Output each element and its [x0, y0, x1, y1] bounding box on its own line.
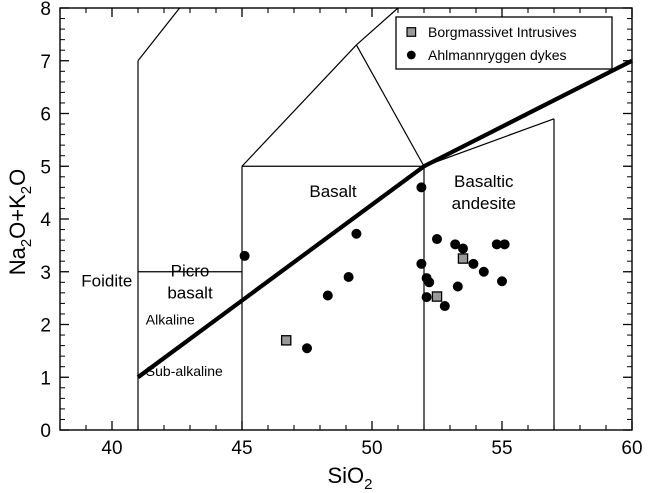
data-point-circle [240, 251, 249, 260]
data-point-circle [352, 229, 361, 238]
y-tick-label: 2 [40, 316, 51, 337]
data-point-circle [344, 272, 353, 281]
x-tick-label: 55 [491, 438, 512, 459]
field-label-line1: Picro [171, 262, 210, 281]
legend-label: Ahlmannryggen dykes [428, 47, 567, 63]
data-point-circle [497, 277, 506, 286]
data-point-circle [469, 259, 478, 268]
field-label-line2: andesite [452, 194, 516, 213]
field-label-foidite: Foidite [81, 272, 132, 291]
y-tick-label: 1 [40, 368, 51, 389]
x-axis-title-sub: 2 [364, 476, 372, 493]
annotation-alkaline: Alkaline [146, 312, 195, 328]
x-tick-label: 50 [361, 438, 382, 459]
data-point-circle [500, 240, 509, 249]
chart-legend: Borgmassivet IntrusivesAhlmannryggen dyk… [396, 17, 612, 69]
y-tick-label: 8 [40, 0, 51, 20]
legend-label: Borgmassivet Intrusives [428, 24, 577, 40]
data-point-square [458, 254, 467, 263]
data-point-circle [422, 292, 431, 301]
chart-canvas: 4045505560012345678 FoiditePicrobasaltBa… [0, 0, 653, 493]
data-point-circle [417, 259, 426, 268]
data-point-circle [453, 282, 462, 291]
field-label-line2: basalt [167, 284, 213, 303]
tas-diagram-figure: 4045505560012345678 FoiditePicrobasaltBa… [0, 0, 653, 493]
field-label-line1: Basaltic [454, 172, 514, 191]
annotation-sub-alkaline: Sub-alkaline [146, 363, 223, 379]
y-tick-label: 4 [40, 210, 51, 231]
data-point-square [282, 336, 291, 345]
y-axis-title-sub2: 2 [18, 186, 35, 194]
data-point-circle [425, 278, 434, 287]
data-point-square [432, 292, 441, 301]
x-tick-label: 45 [231, 438, 252, 459]
y-tick-label: 0 [40, 421, 51, 442]
x-tick-label: 60 [621, 438, 642, 459]
legend-item-0[interactable]: Borgmassivet Intrusives [407, 24, 577, 40]
y-axis-title-sub1: 2 [18, 239, 35, 247]
y-tick-label: 7 [40, 52, 51, 73]
data-point-circle [323, 291, 332, 300]
data-point-circle [417, 183, 426, 192]
data-point-circle [440, 301, 449, 310]
data-point-circle [302, 344, 311, 353]
figure-background [0, 0, 653, 493]
y-tick-label: 5 [40, 157, 51, 178]
data-point-circle [432, 234, 441, 243]
data-point-circle [479, 267, 488, 276]
y-axis-title-text3: O [5, 169, 30, 186]
legend-marker-circle [407, 51, 416, 60]
legend-marker-square [407, 28, 416, 37]
x-axis-title-text: SiO [327, 463, 364, 488]
y-tick-label: 6 [40, 105, 51, 126]
y-tick-label: 3 [40, 263, 51, 284]
legend-item-1[interactable]: Ahlmannryggen dykes [407, 47, 567, 63]
field-label-basalt: Basalt [309, 182, 357, 201]
data-point-circle [458, 244, 467, 253]
x-tick-label: 40 [101, 438, 122, 459]
y-axis-title-text: Na [5, 246, 30, 275]
y-axis-title-text2: O+K [5, 194, 30, 239]
